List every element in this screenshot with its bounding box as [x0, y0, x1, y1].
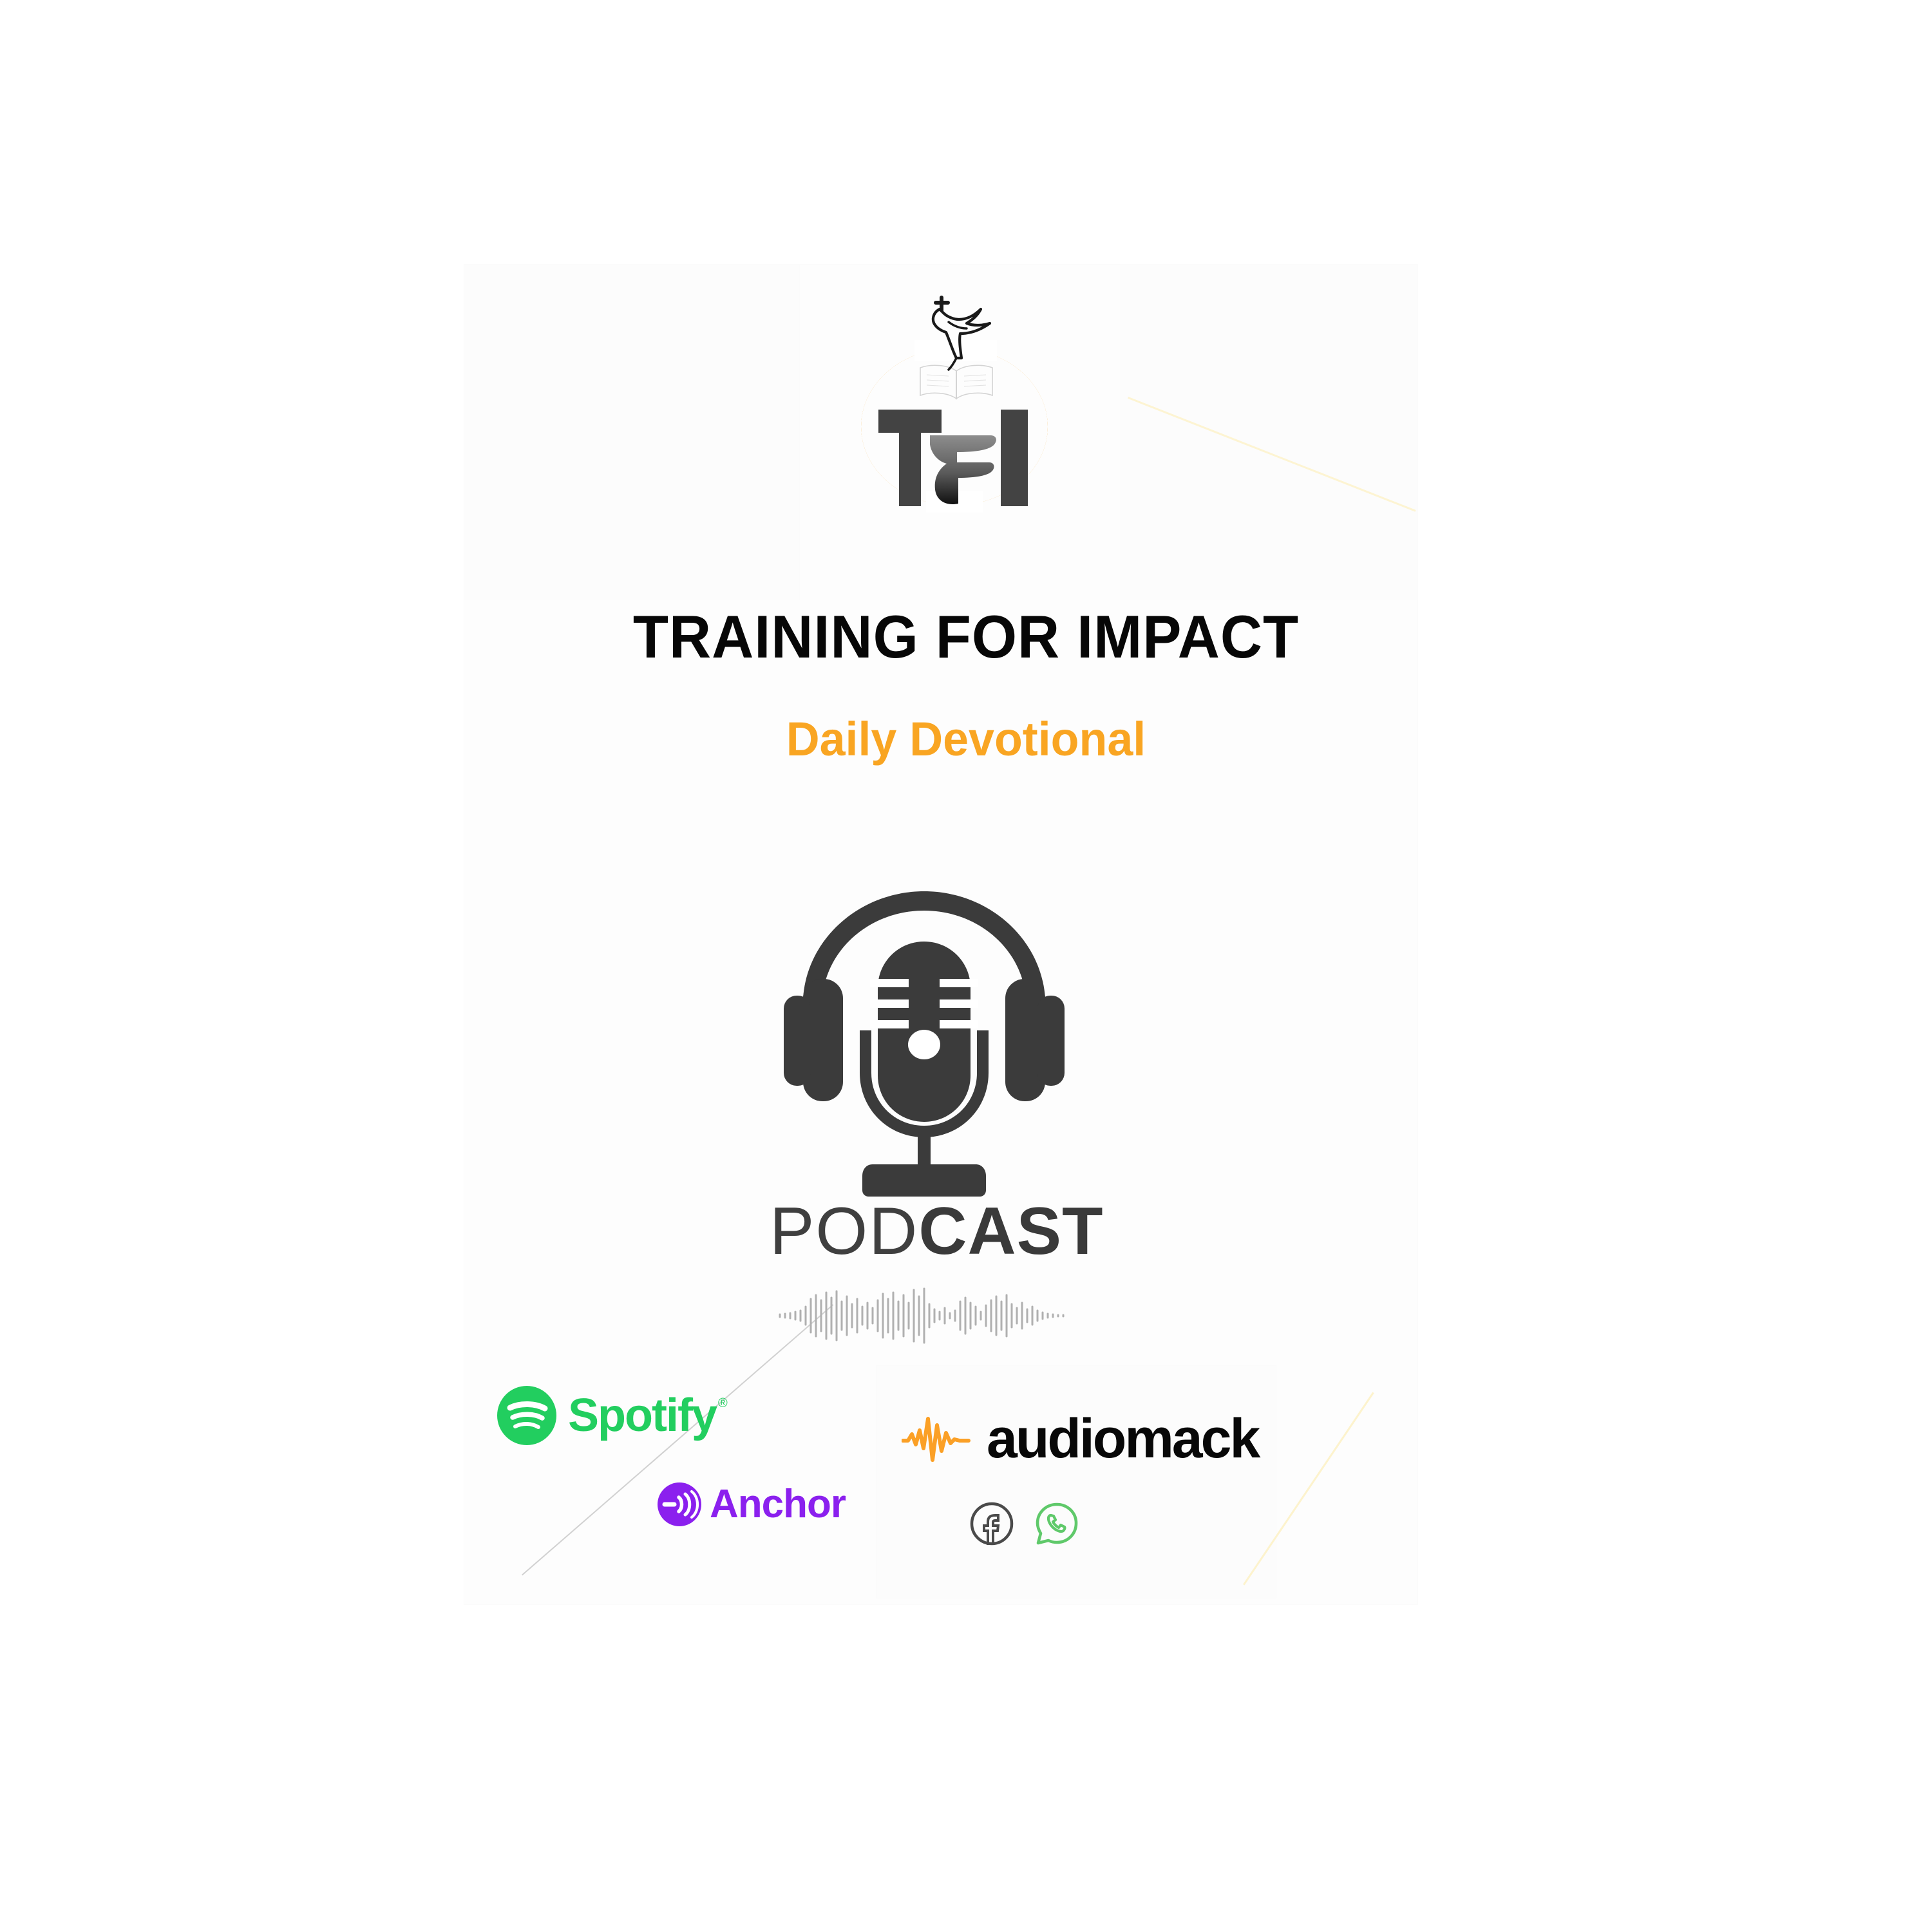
tfi-monogram: [875, 407, 1036, 509]
whatsapp-icon[interactable]: [1034, 1501, 1080, 1547]
podcast-microphone-headphones-icon: [770, 882, 1079, 1204]
spotify-registered-mark: ®: [718, 1396, 728, 1411]
facebook-icon[interactable]: [969, 1501, 1014, 1546]
audiomack-waveform-icon[interactable]: [902, 1411, 972, 1468]
page-title: TRAINING FOR IMPACT: [39, 602, 1893, 672]
background-panel-top-right: [1121, 264, 1418, 600]
poster-canvas: TRAINING FOR IMPACT Daily Devotional: [0, 0, 1932, 1932]
audiomack-link[interactable]: audiomack: [902, 1407, 1258, 1471]
social-links: [969, 1501, 1080, 1547]
audio-waveform-icon: [776, 1285, 1072, 1347]
podcast-word-bold: CAST: [918, 1194, 1103, 1269]
podcast-wordmark: PODCAST: [770, 1198, 1079, 1265]
podcast-mark: PODCAST: [770, 882, 1079, 1372]
anchor-link[interactable]: Anchor: [657, 1481, 846, 1527]
tfi-logo: [844, 290, 1069, 528]
audiomack-label[interactable]: audiomack: [987, 1407, 1258, 1471]
dove-icon: [911, 294, 1001, 372]
spotify-icon[interactable]: [496, 1385, 558, 1446]
anchor-label[interactable]: Anchor: [710, 1481, 846, 1527]
background-panel-bottom-right: [876, 1365, 1276, 1598]
podcast-word-light: POD: [770, 1194, 918, 1269]
page-subtitle: Daily Devotional: [29, 712, 1903, 766]
anchor-broadcast-icon[interactable]: [657, 1482, 702, 1527]
spotify-link[interactable]: Spotify ®: [496, 1385, 728, 1446]
spotify-label[interactable]: Spotify: [568, 1389, 716, 1442]
background-panel-top-left: [464, 264, 800, 600]
